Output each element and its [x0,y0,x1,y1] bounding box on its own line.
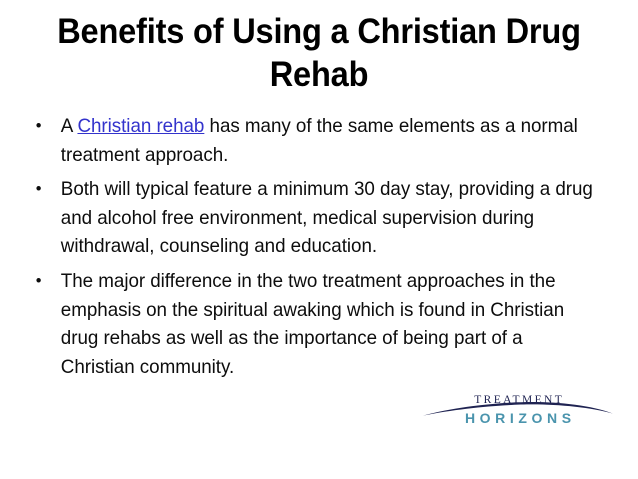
bullet-point-icon: • [36,267,50,296]
bullet-list: • A Christian rehab has many of the same… [28,112,616,387]
list-item: • A Christian rehab has many of the same… [28,112,595,169]
bullet-point-icon: • [36,175,50,204]
bullet-text-lead: A [61,115,78,137]
bullet-point-icon: • [36,112,50,141]
bullet-item-text: The major difference in the two treatmen… [61,267,596,381]
presentation-slide: Benefits of Using a Christian Drug Rehab… [0,0,638,479]
bullet-item-text: Both will typical feature a minimum 30 d… [61,175,596,261]
bullet-item-text: A Christian rehab has many of the same e… [61,112,596,169]
list-item: • The major difference in the two treatm… [28,267,595,381]
list-item: • Both will typical feature a minimum 30… [28,175,595,261]
page-title: Benefits of Using a Christian Drug Rehab [43,10,595,96]
christian-rehab-link[interactable]: Christian rehab [77,115,204,137]
treatment-horizons-logo: TREATMENT HORIZONS [420,392,616,436]
logo-wordmark-horizons: HORIZONS [420,410,616,427]
